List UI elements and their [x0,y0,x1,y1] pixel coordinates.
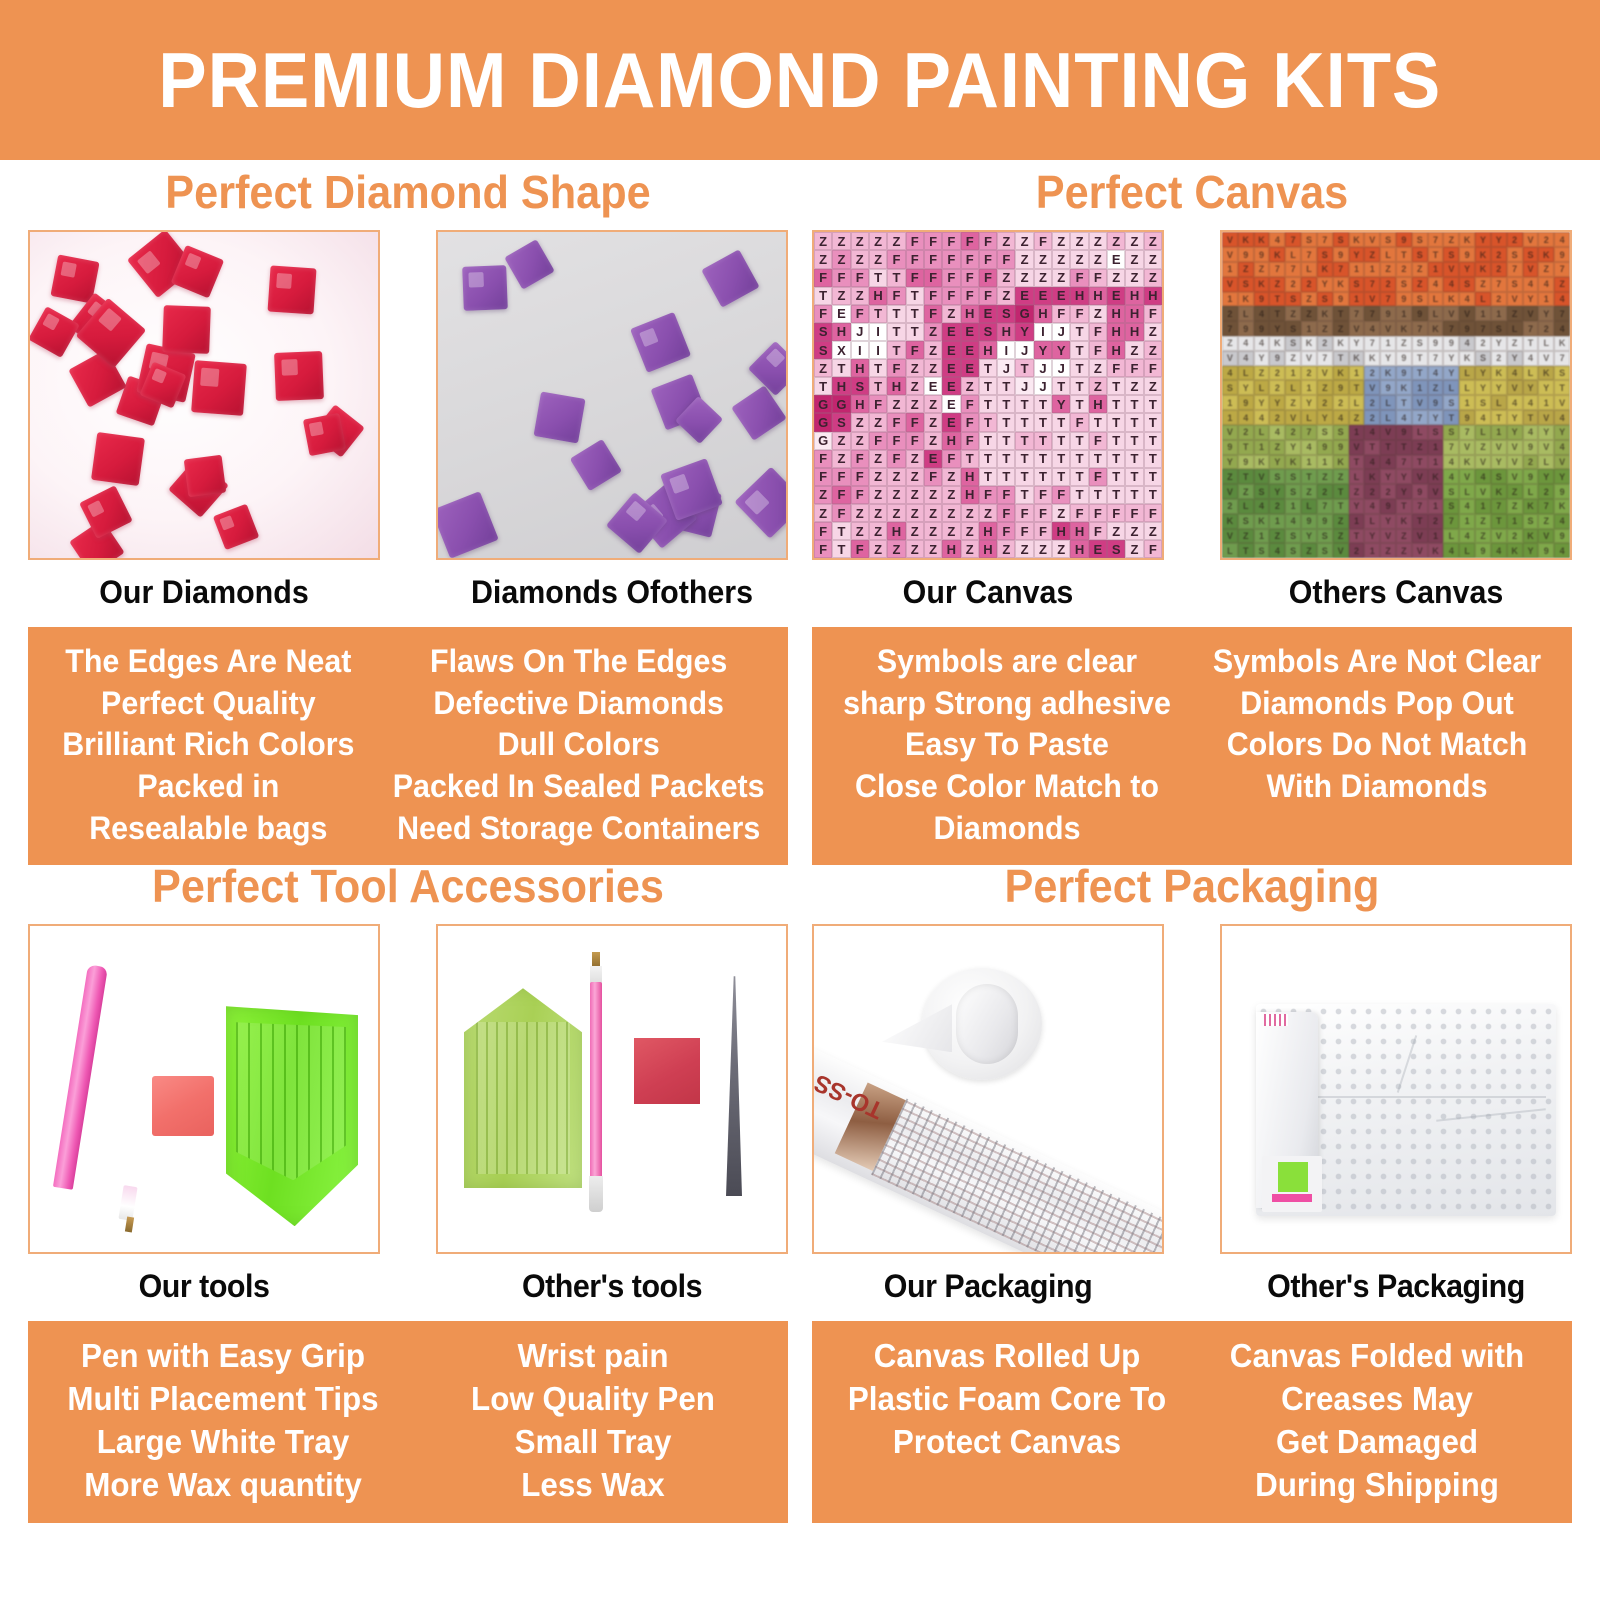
canvas-symbol-cell: 4 [1333,410,1349,425]
canvas-symbol-cell: 2 [1238,425,1254,440]
canvas-symbol-cell: 4 [1554,292,1570,307]
canvas-symbol-cell: S [1507,277,1523,292]
canvas-symbol-cell: 9 [1254,247,1270,262]
canvas-symbol-cell: S [1443,395,1459,410]
canvas-symbol-cell: 4 [1443,543,1459,558]
canvas-symbol-cell: L [1523,484,1539,499]
header-banner: PREMIUM DIAMOND PAINTING KITS [0,0,1600,160]
canvas-symbol-cell: Z [1015,540,1033,558]
canvas-symbol-cell: Z [1222,469,1238,484]
canvas-symbol-cell: 1 [1349,514,1365,529]
canvas-symbol-cell: L [1222,543,1238,558]
canvas-symbol-cell: 9 [1380,499,1396,514]
canvas-symbol-cell: 2 [1285,425,1301,440]
canvas-symbol-cell: Y [1380,514,1396,529]
canvas-symbol-cell: G [1015,305,1033,323]
canvas-symbol-cell: 4 [1238,336,1254,351]
canvas-symbol-cell: T [1015,395,1033,413]
canvas-symbol-cell: Y [1396,469,1412,484]
canvas-symbol-cell: L [1301,499,1317,514]
canvas-symbol-cell: F [814,450,832,468]
canvas-symbol-cell: 7 [1412,321,1428,336]
canvas-symbol-cell: T [1333,499,1349,514]
canvas-symbol-cell: F [869,432,887,450]
canvas-symbol-cell: Z [869,504,887,522]
diamond-drill-icon [436,492,498,559]
canvas-symbol-cell: K [1475,262,1491,277]
canvas-symbol-cell: S [1412,232,1428,247]
canvas-symbol-cell: E [942,323,960,341]
bullet-line: Diamonds Pop Out [1205,683,1549,725]
canvas-symbol-cell: 1 [1491,425,1507,440]
canvas-symbol-cell: 7 [1475,321,1491,336]
canvas-symbol-cell: 9 [1333,440,1349,455]
canvas-symbol-cell: 9 [1222,440,1238,455]
canvas-symbol-cell: T [1070,432,1088,450]
photo-frame-our-tools [28,924,380,1254]
canvas-symbol-cell: Z [1238,484,1254,499]
canvas-symbol-cell: E [942,359,960,377]
section-diamond-shape: Perfect Diamond Shape Our Diamonds Diamo… [28,168,788,865]
canvas-symbol-cell: S [1475,395,1491,410]
canvas-symbol-cell: 1 [1428,499,1444,514]
canvas-symbol-cell: L [1285,247,1301,262]
canvas-symbol-cell: F [1089,522,1107,540]
canvas-symbol-cell: S [1507,247,1523,262]
canvas-symbol-cell: Z [1125,250,1143,268]
green-tray-icon [226,1006,358,1226]
canvas-symbol-cell: S [1285,321,1301,336]
canvas-symbol-cell: Y [1034,341,1052,359]
canvas-symbol-cell: Y [1349,336,1365,351]
canvas-symbol-cell: T [906,287,924,305]
canvas-symbol-cell: 4 [1459,292,1475,307]
canvas-symbol-cell: Z [887,504,905,522]
canvas-symbol-cell: 7 [1285,262,1301,277]
canvas-symbol-cell: Y [1459,262,1475,277]
canvas-symbol-cell: 1 [1428,529,1444,544]
canvas-symbol-cell: F [906,341,924,359]
canvas-symbol-cell: 9 [1554,247,1570,262]
canvas-symbol-cell: Z [832,232,850,250]
canvas-symbol-cell: S [1285,469,1301,484]
canvas-symbol-cell: E [924,377,942,395]
canvas-symbol-cell: V [1349,321,1365,336]
canvas-symbol-cell: Z [1034,250,1052,268]
canvas-symbol-cell: S [1254,484,1270,499]
bubble-mailer-image [1222,926,1570,1252]
canvas-symbol-cell: Z [924,522,942,540]
canvas-symbol-cell: 7 [1443,440,1459,455]
canvas-symbol-cell: F [1089,323,1107,341]
canvas-symbol-cell: S [1412,292,1428,307]
our-tools-image [30,926,378,1252]
canvas-symbol-cell: F [1089,341,1107,359]
diamond-drill-icon [213,504,259,550]
diamond-drill-icon [462,265,508,311]
canvas-symbol-cell: 7 [1317,351,1333,366]
photo-cell-other-tools: Other's tools [436,924,788,1305]
canvas-symbol-cell: 9 [1254,321,1270,336]
canvas-symbol-cell: 9 [1317,514,1333,529]
canvas-symbol-cell: S [1554,366,1570,381]
canvas-symbol-cell: S [1301,232,1317,247]
canvas-symbol-cell: E [1015,287,1033,305]
canvas-symbol-cell: 2 [1538,232,1554,247]
canvas-symbol-cell: Z [997,287,1015,305]
canvas-symbol-cell: 7 [1317,499,1333,514]
canvas-symbol-cell: Z [1238,529,1254,544]
canvas-symbol-cell: V [1222,277,1238,292]
tweezers-icon [726,976,742,1196]
canvas-symbol-cell: S [1349,277,1365,292]
canvas-symbol-cell: 4 [1554,232,1570,247]
canvas-symbol-cell: T [1107,377,1125,395]
canvas-symbol-cell: V [1491,529,1507,544]
canvas-symbol-cell: Z [1144,250,1162,268]
canvas-symbol-cell: Z [1380,262,1396,277]
canvas-symbol-cell: Z [906,377,924,395]
canvas-symbol-cell: K [1443,292,1459,307]
canvas-symbol-cell: Y [1475,380,1491,395]
canvas-symbol-cell: F [887,287,905,305]
canvas-symbol-cell: S [1428,425,1444,440]
canvas-symbol-cell: K [1222,514,1238,529]
section-canvas: Perfect Canvas ZZZZZFFFFFZZFZZZZZZZZZZFF… [812,168,1572,865]
canvas-symbol-cell: J [1052,359,1070,377]
canvas-symbol-cell: T [1015,359,1033,377]
canvas-symbol-cell: K [1491,484,1507,499]
photo-row: Our tools Other's tools [28,924,788,1305]
canvas-symbol-cell: 7 [1412,410,1428,425]
canvas-symbol-cell: H [1034,305,1052,323]
canvas-symbol-cell: Z [942,468,960,486]
bullet-box-tools: Pen with Easy GripMulti Placement TipsLa… [28,1321,788,1523]
canvas-symbol-cell: T [1396,499,1412,514]
canvas-symbol-cell: F [1034,232,1052,250]
canvas-symbol-cell: K [1364,351,1380,366]
pen-nib-icon [125,1217,134,1233]
canvas-symbol-cell: V [1443,306,1459,321]
canvas-symbol-cell: Y [1523,380,1539,395]
canvas-symbol-cell: F [1125,359,1143,377]
canvas-symbol-cell: F [814,522,832,540]
photo-caption: Diamonds Ofothers [445,574,779,611]
canvas-symbol-cell: T [1412,366,1428,381]
canvas-symbol-cell: 2 [1396,262,1412,277]
canvas-symbol-cell: F [1144,359,1162,377]
canvas-symbol-cell: T [814,377,832,395]
canvas-symbol-cell: F [979,287,997,305]
canvas-symbol-cell: V [1412,529,1428,544]
canvas-symbol-cell: F [832,468,850,486]
canvas-symbol-cell: Z [1034,540,1052,558]
canvas-symbol-cell: 9 [1396,232,1412,247]
canvas-symbol-cell: E [1089,540,1107,558]
canvas-symbol-cell: 1 [1459,514,1475,529]
canvas-symbol-cell: F [979,250,997,268]
canvas-symbol-cell: 9 [1380,306,1396,321]
canvas-symbol-cell: 4 [1269,543,1285,558]
canvas-symbol-cell: Z [1015,250,1033,268]
canvas-symbol-cell: Z [1554,277,1570,292]
canvas-symbol-cell: F [869,395,887,413]
canvas-symbol-cell: Y [1349,499,1365,514]
canvas-symbol-cell: 4 [1285,514,1301,529]
canvas-symbol-cell: T [1333,484,1349,499]
canvas-symbol-cell: 2 [1349,543,1365,558]
canvas-symbol-cell: Z [961,522,979,540]
canvas-symbol-cell: Z [1285,395,1301,410]
canvas-symbol-cell: S [1475,351,1491,366]
canvas-symbol-cell: F [887,413,905,431]
canvas-symbol-cell: T [1238,440,1254,455]
canvas-symbol-cell: L [1364,514,1380,529]
diamond-drill-icon [734,466,788,538]
canvas-symbol-cell: K [1428,321,1444,336]
canvas-symbol-cell: Z [814,486,832,504]
canvas-symbol-cell: Z [1089,250,1107,268]
canvas-symbol-cell: V [1443,262,1459,277]
canvas-symbol-cell: 2 [1364,484,1380,499]
canvas-symbol-cell: S [851,377,869,395]
canvas-symbol-cell: H [1144,287,1162,305]
canvas-symbol-cell: Z [1396,336,1412,351]
canvas-symbol-cell: Y [1269,321,1285,336]
canvas-symbol-cell: Z [1396,529,1412,544]
canvas-symbol-cell: L [1475,292,1491,307]
canvas-symbol-cell: 1 [1459,395,1475,410]
photo-frame-our-canvas: ZZZZZFFFFFZZFZZZZZZZZZZFFFFFFFZZZZZEZZFF… [812,230,1164,560]
canvas-symbol-cell: H [1052,522,1070,540]
canvas-symbol-cell: I [851,341,869,359]
canvas-symbol-cell: 4 [1443,469,1459,484]
bullet-line: Low Quality Pen [421,1378,765,1421]
canvas-symbol-cell: F [887,450,905,468]
bullet-line: sharp Strong adhesive [835,683,1179,725]
canvas-symbol-cell: S [1380,232,1396,247]
diamond-drill-icon [267,266,316,315]
canvas-symbol-cell: 4 [1523,395,1539,410]
bullet-line: Wrist pain [421,1335,765,1378]
canvas-symbol-cell: I [869,341,887,359]
photo-caption: Our tools [37,1268,371,1305]
canvas-symbol-cell: T [1034,450,1052,468]
canvas-symbol-cell: T [1125,486,1143,504]
bullet-box-packaging: Canvas Rolled UpPlastic Foam Core ToProt… [812,1321,1572,1523]
canvas-symbol-cell: H [997,323,1015,341]
canvas-symbol-cell: 1 [1301,321,1317,336]
canvas-symbol-cell: 1 [1412,380,1428,395]
canvas-symbol-cell: H [979,540,997,558]
canvas-symbol-cell: F [851,305,869,323]
canvas-symbol-cell: Z [814,359,832,377]
bullet-col-ours: Symbols are clearsharp Strong adhesiveEa… [831,641,1183,849]
canvas-symbol-cell: L [1301,410,1317,425]
canvas-symbol-cell: S [1285,484,1301,499]
canvas-symbol-cell: Y [1269,395,1285,410]
bullet-line: Flaws On The Edges [392,641,764,683]
canvas-symbol-cell: T [1052,450,1070,468]
canvas-symbol-cell: Z [924,504,942,522]
canvas-symbol-cell: Z [1317,321,1333,336]
canvas-symbol-cell: H [1107,341,1125,359]
canvas-symbol-cell: K [1349,351,1365,366]
canvas-symbol-cell: 1 [1475,499,1491,514]
canvas-symbol-cell: E [942,413,960,431]
canvas-symbol-cell: S [1412,336,1428,351]
canvas-symbol-cell: Y [1491,232,1507,247]
diamond-drill-icon [630,312,690,372]
photo-cell-other-canvas: VKK47S7SKVS9S7ZKYY2V24V99KL7S9YZLTSTS9K2… [1220,230,1572,611]
canvas-symbol-cell: V [1554,455,1570,470]
canvas-symbol-cell: H [1107,305,1125,323]
folded-canvas-peek-icon [1262,1156,1322,1212]
canvas-symbol-cell: Z [1507,336,1523,351]
canvas-symbol-cell: H [832,323,850,341]
canvas-symbol-cell: T [1015,450,1033,468]
bullet-line: During Shipping [1205,1464,1549,1507]
canvas-symbol-cell: 7 [1269,262,1285,277]
canvas-symbol-cell: 2 [1538,484,1554,499]
canvas-symbol-cell: 1 [1317,455,1333,470]
canvas-symbol-cell: V [1475,455,1491,470]
canvas-symbol-cell: 7 [1301,247,1317,262]
canvas-symbol-cell: Y [1443,366,1459,381]
canvas-symbol-cell: 9 [1443,336,1459,351]
canvas-symbol-cell: T [887,269,905,287]
canvas-symbol-cell: V [1222,425,1238,440]
canvas-symbol-cell: K [1554,336,1570,351]
canvas-symbol-cell: 4 [1396,410,1412,425]
canvas-symbol-cell: Y [1428,410,1444,425]
canvas-symbol-cell: T [1349,455,1365,470]
canvas-symbol-cell: F [961,395,979,413]
diamond-drill-icon [534,391,587,444]
canvas-symbol-cell: 7 [1412,499,1428,514]
canvas-symbol-cell: L [1538,336,1554,351]
bullet-line: Protect Canvas [835,1421,1179,1464]
canvas-symbol-cell: T [1034,395,1052,413]
canvas-symbol-cell: V [1459,469,1475,484]
canvas-symbol-cell: 2 [1380,277,1396,292]
diamond-drill-icon [504,240,554,290]
canvas-symbol-cell: T [1070,359,1088,377]
canvas-symbol-cell: 1 [1428,455,1444,470]
canvas-symbol-cell: T [1107,413,1125,431]
canvas-symbol-cell: 2 [1538,321,1554,336]
canvas-symbol-cell: 9 [1254,292,1270,307]
canvas-symbol-cell: Z [814,250,832,268]
canvas-symbol-cell: L [1428,306,1444,321]
canvas-symbol-cell: T [1089,450,1107,468]
canvas-symbol-cell: E [1052,287,1070,305]
photo-caption: Other's tools [445,1268,779,1305]
canvas-symbol-cell: Z [1125,232,1143,250]
canvas-symbol-cell: T [1107,468,1125,486]
canvas-symbol-cell: Z [1089,377,1107,395]
canvas-symbol-cell: K [1317,306,1333,321]
canvas-symbol-cell: 7 [1364,277,1380,292]
canvas-symbol-cell: Z [1144,377,1162,395]
canvas-symbol-cell: Z [887,540,905,558]
canvas-symbol-cell: Y [1523,292,1539,307]
bullet-line: Creases May [1205,1378,1549,1421]
canvas-symbol-cell: V [1554,395,1570,410]
canvas-symbol-cell: V [1222,484,1238,499]
canvas-symbol-cell: H [961,486,979,504]
canvas-symbol-cell: 4 [1428,366,1444,381]
section-title: Perfect Tool Accessories [51,862,765,910]
canvas-symbol-cell: 2 [1301,366,1317,381]
canvas-symbol-cell: S [979,323,997,341]
canvas-symbol-cell: 9 [1459,410,1475,425]
tube-cap-beak-icon [882,1004,952,1052]
canvas-symbol-cell: K [1254,514,1270,529]
canvas-symbol-cell: Z [1538,262,1554,277]
canvas-symbol-cell: Z [1269,529,1285,544]
canvas-symbol-cell: F [1034,522,1052,540]
canvas-symbol-cell: 2 [1301,277,1317,292]
diamond-drill-icon [570,439,623,492]
canvas-symbol-cell: Z [1412,262,1428,277]
canvas-symbol-cell: G [814,395,832,413]
canvas-symbol-cell: T [1333,306,1349,321]
canvas-symbol-cell: 9 [1459,247,1475,262]
canvas-symbol-cell: T [1070,377,1088,395]
canvas-symbol-cell: 9 [1238,247,1254,262]
bullet-col-ours: Pen with Easy GripMulti Placement TipsLa… [47,1335,399,1507]
canvas-symbol-cell: K [1364,469,1380,484]
canvas-symbol-cell: 2 [1317,395,1333,410]
canvas-symbol-cell: T [832,540,850,558]
canvas-symbol-cell: F [814,468,832,486]
canvas-symbol-cell: F [924,287,942,305]
canvas-symbol-cell: J [1015,377,1033,395]
canvas-symbol-cell: F [1089,468,1107,486]
canvas-symbol-cell: V [1507,455,1523,470]
canvas-symbol-cell: E [961,323,979,341]
canvas-symbol-cell: T [1349,529,1365,544]
canvas-symbol-cell: Z [1317,380,1333,395]
canvas-symbol-cell: 9 [1396,425,1412,440]
photo-frame-other-packaging [1220,924,1572,1254]
canvas-symbol-cell: K [1523,499,1539,514]
canvas-symbol-cell: L [1459,380,1475,395]
canvas-symbol-cell: 2 [1364,410,1380,425]
canvas-symbol-cell: Z [1125,522,1143,540]
canvas-symbol-cell: T [814,287,832,305]
canvas-symbol-cell: Z [851,232,869,250]
canvas-symbol-cell: L [1538,455,1554,470]
tube-cap-inner-icon [956,984,1018,1064]
bullet-line: Multi Placement Tips [51,1378,395,1421]
canvas-symbol-cell: V [1412,395,1428,410]
canvas-symbol-cell: F [1070,305,1088,323]
canvas-symbol-cell: Z [961,377,979,395]
canvas-symbol-cell: F [942,232,960,250]
canvas-symbol-cell: F [851,486,869,504]
canvas-symbol-cell: S [814,341,832,359]
canvas-symbol-cell: H [1125,305,1143,323]
canvas-symbol-cell: Y [1364,529,1380,544]
canvas-symbol-cell: Y [1254,351,1270,366]
canvas-symbol-cell: T [1523,410,1539,425]
canvas-symbol-cell: 9 [1396,351,1412,366]
canvas-symbol-cell: H [1070,540,1088,558]
canvas-symbol-cell: E [961,359,979,377]
canvas-symbol-cell: L [1459,366,1475,381]
